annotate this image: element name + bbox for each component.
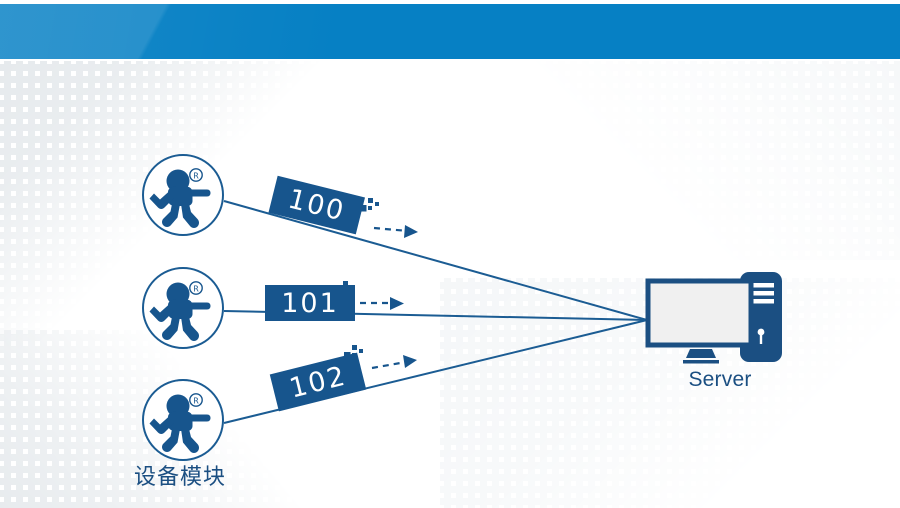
data-badge-102[interactable]: 102 [270, 353, 367, 412]
device-node-102[interactable]: R 102 [143, 345, 417, 460]
server-label: Server [648, 368, 792, 392]
flow-diagram-svg: R 100 R [0, 0, 900, 508]
server-node[interactable] [648, 272, 782, 364]
dashed-arrow-icon [360, 297, 404, 310]
device-node-101[interactable]: R 101 [143, 268, 404, 348]
dashed-arrow-icon [372, 355, 417, 368]
device-node-100[interactable]: R 100 [143, 155, 418, 238]
diagram-canvas: R 100 R [0, 0, 900, 508]
monitor-stand-neck [686, 349, 716, 358]
svg-text:R: R [193, 172, 199, 181]
data-badge-100[interactable]: 100 [268, 176, 365, 235]
dashed-arrow-icon [374, 225, 418, 238]
signal-dots-icon [344, 345, 363, 359]
svg-text:R: R [193, 397, 199, 406]
badge-label: 102 [286, 360, 349, 404]
device-group-label: 设备模块 [100, 459, 260, 491]
badge-label: 101 [281, 288, 339, 319]
server-monitor-screen [648, 281, 751, 345]
svg-text:R: R [193, 285, 199, 294]
monitor-stand-base [683, 360, 719, 364]
